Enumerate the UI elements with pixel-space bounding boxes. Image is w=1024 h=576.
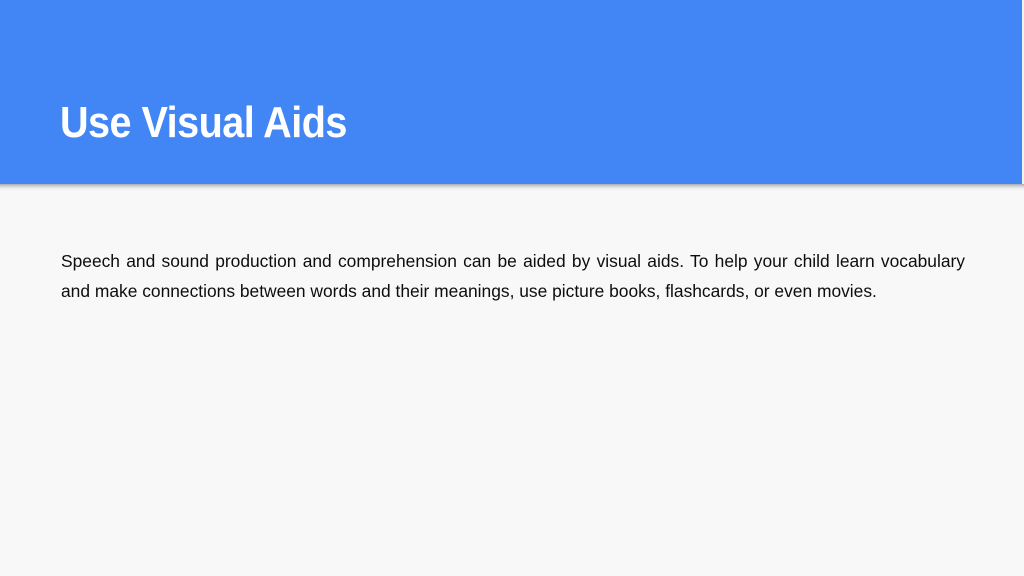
slide-body: Speech and sound production and comprehe… [0, 184, 1024, 576]
slide-body-paragraph: Speech and sound production and comprehe… [61, 246, 965, 306]
slide-header-band: Use Visual Aids [0, 0, 1024, 184]
slide-title: Use Visual Aids [60, 101, 347, 145]
presentation-slide: Use Visual Aids Speech and sound product… [0, 0, 1024, 576]
